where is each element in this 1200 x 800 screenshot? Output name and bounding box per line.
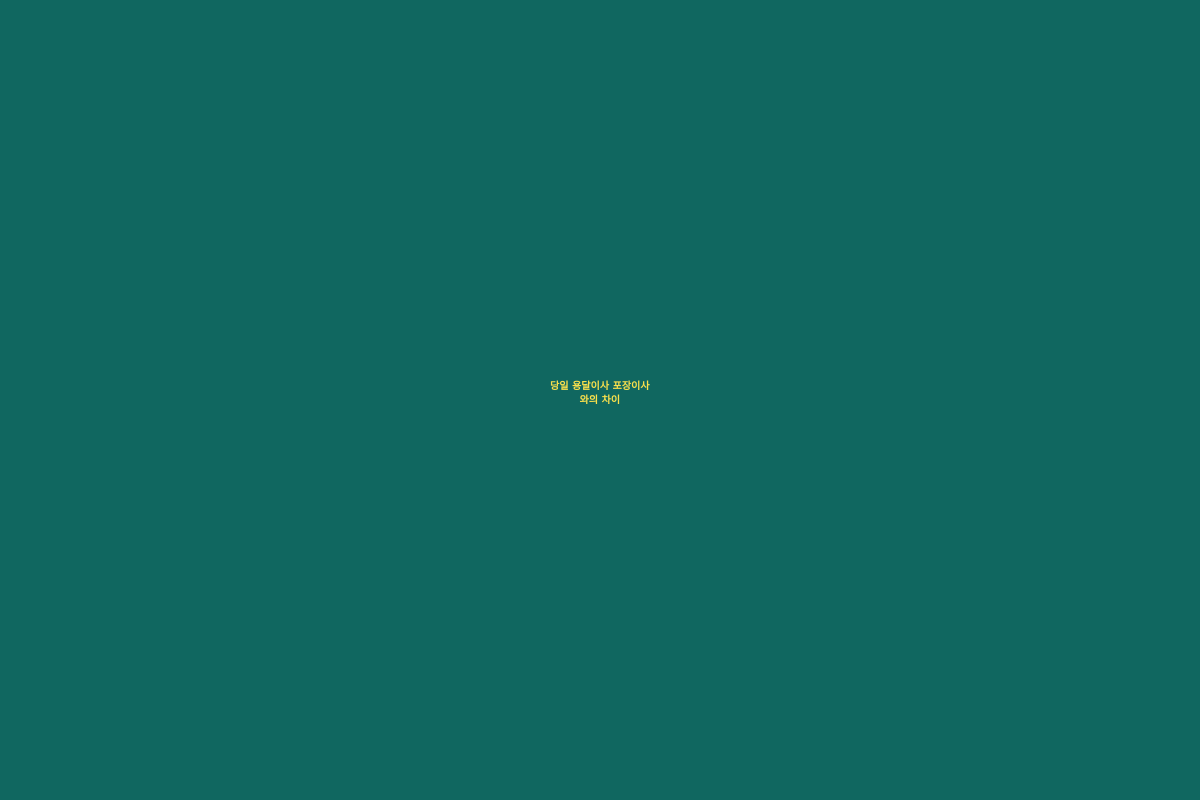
headline-block: 당일 용달이사 포장이사 와의 차이: [70, 380, 1130, 408]
headline-line-1: 당일 용달이사 포장이사: [70, 380, 1130, 394]
banner-background: 당일 용달이사 포장이사 와의 차이: [0, 0, 1200, 800]
headline-line-2: 와의 차이: [70, 394, 1130, 408]
